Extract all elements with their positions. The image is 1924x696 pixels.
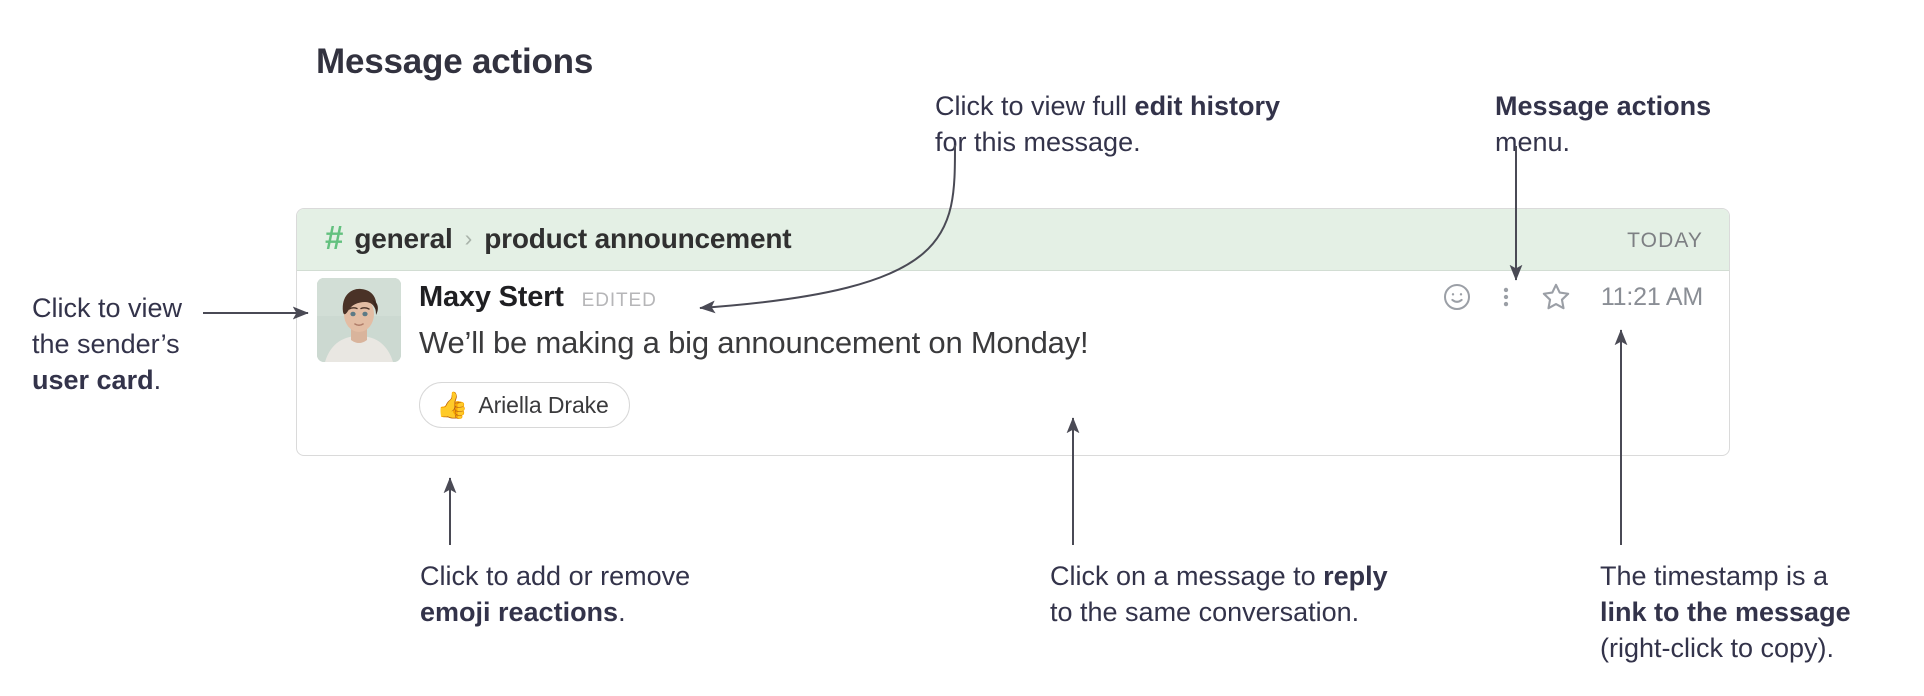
annotation-timestamp-line1: The timestamp is a xyxy=(1600,558,1851,594)
page-title: Message actions xyxy=(316,42,593,82)
sender-row: Maxy Stert EDITED xyxy=(419,281,657,314)
annotation-user-card-line2: the sender’s xyxy=(32,326,182,362)
annotation-user-card-emphasis: user card xyxy=(32,365,154,395)
annotation-emoji-line1: Click to add or remove xyxy=(420,558,690,594)
annotation-emoji-reactions: Click to add or remove emoji reactions. xyxy=(420,558,690,630)
annotation-emoji-line2-tail: . xyxy=(618,597,626,627)
annotation-user-card: Click to view the sender’s user card. xyxy=(32,290,182,398)
sender-name[interactable]: Maxy Stert xyxy=(419,281,564,314)
breadcrumb: # general › product announcement xyxy=(325,222,791,255)
message-actions-group: 11:21 AM xyxy=(1441,277,1703,317)
card-header: # general › product announcement TODAY xyxy=(297,209,1729,271)
annotation-user-card-line3: user card. xyxy=(32,362,182,398)
annotation-timestamp-emphasis: link to the message xyxy=(1600,597,1851,627)
message-body[interactable]: We’ll be making a big announcement on Mo… xyxy=(419,325,1088,361)
annotation-reply-emphasis: reply xyxy=(1323,561,1388,591)
message-actions-menu-icon[interactable] xyxy=(1493,281,1519,313)
emoji-reaction-icon[interactable] xyxy=(1441,281,1473,313)
annotation-user-card-line1: Click to view xyxy=(32,290,182,326)
annotation-actions-menu-emphasis: Message actions xyxy=(1495,91,1711,121)
annotation-user-card-line3-tail: . xyxy=(154,365,162,395)
annotation-timestamp-line3: (right-click to copy). xyxy=(1600,630,1851,666)
breadcrumb-channel[interactable]: general xyxy=(354,223,452,255)
annotation-edit-history: Click to view full edit history for this… xyxy=(935,88,1280,160)
annotation-timestamp-line2: link to the message xyxy=(1600,594,1851,630)
annotation-actions-menu-line1: Message actions xyxy=(1495,88,1711,124)
edited-badge[interactable]: EDITED xyxy=(582,290,657,312)
breadcrumb-topic[interactable]: product announcement xyxy=(484,223,791,255)
annotation-reply-lead: Click on a message to xyxy=(1050,561,1323,591)
chevron-right-icon: › xyxy=(464,225,474,252)
message-card: # general › product announcement TODAY xyxy=(296,208,1730,456)
annotation-edit-history-emphasis: edit history xyxy=(1135,91,1281,121)
reaction-pill[interactable]: 👍 Ariella Drake xyxy=(419,382,630,428)
annotation-reply-line1: Click on a message to reply xyxy=(1050,558,1388,594)
annotation-actions-menu-line2: menu. xyxy=(1495,124,1711,160)
reaction-user: Ariella Drake xyxy=(478,392,608,419)
annotation-emoji-emphasis: emoji reactions xyxy=(420,597,618,627)
date-label: TODAY xyxy=(1627,229,1703,253)
avatar[interactable] xyxy=(317,278,401,362)
annotation-emoji-line2: emoji reactions. xyxy=(420,594,690,630)
annotation-reply-line2: to the same conversation. xyxy=(1050,594,1388,630)
annotation-edit-history-line2: for this message. xyxy=(935,124,1280,160)
hash-icon: # xyxy=(325,221,343,254)
annotation-timestamp: The timestamp is a link to the message (… xyxy=(1600,558,1851,666)
annotation-actions-menu: Message actions menu. xyxy=(1495,88,1711,160)
message-timestamp-link[interactable]: 11:21 AM xyxy=(1601,283,1703,312)
star-icon[interactable] xyxy=(1539,280,1573,314)
annotation-edit-history-line1: Click to view full edit history xyxy=(935,88,1280,124)
annotation-reply: Click on a message to reply to the same … xyxy=(1050,558,1388,630)
annotation-edit-history-lead: Click to view full xyxy=(935,91,1135,121)
thumbs-up-icon: 👍 xyxy=(436,392,468,418)
